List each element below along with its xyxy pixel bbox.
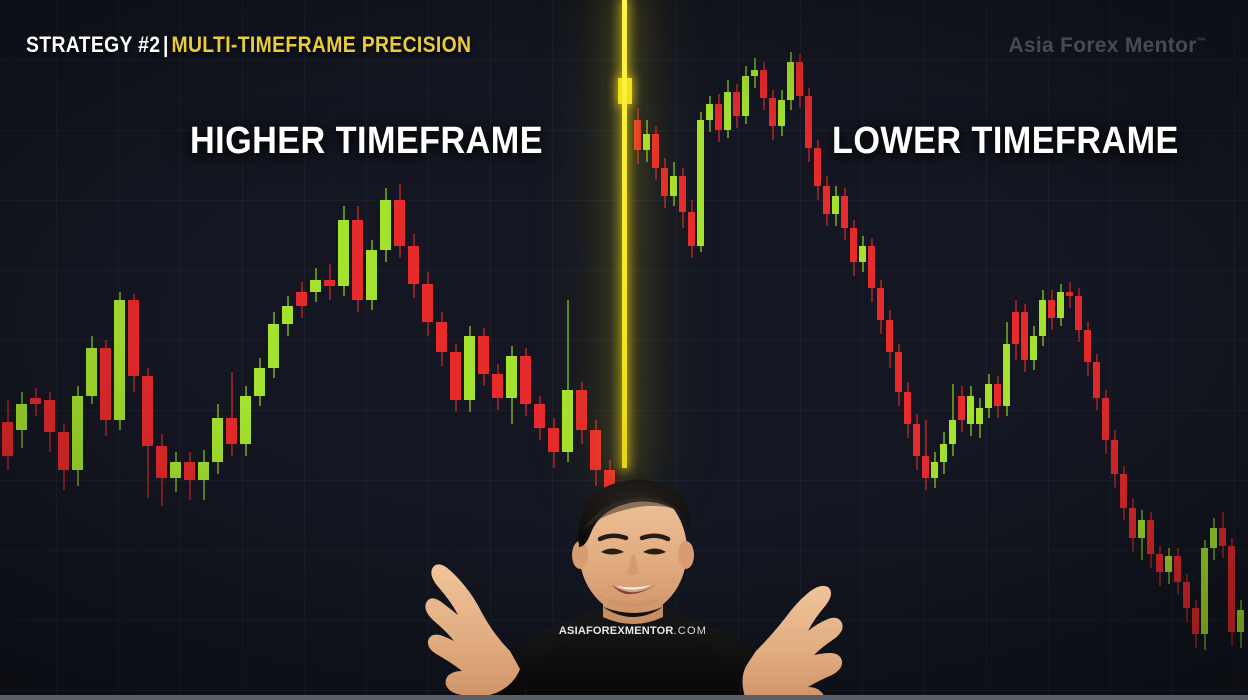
candle-body — [688, 212, 695, 246]
candle-body — [464, 336, 475, 400]
candle-body — [198, 462, 209, 480]
candle-body — [254, 368, 265, 396]
candle-body — [1156, 554, 1163, 572]
candle-body — [240, 396, 251, 444]
shirt-brand-name: ASIAFOREXMENTOR — [559, 625, 674, 637]
candle — [156, 0, 167, 700]
candle-body — [1210, 528, 1217, 548]
candle-body — [1219, 528, 1226, 546]
candle-body — [733, 92, 740, 116]
candle — [142, 0, 153, 700]
candle-body — [742, 76, 749, 116]
candle-body — [520, 356, 531, 404]
candle — [922, 0, 929, 700]
candle-body — [805, 96, 812, 148]
candle — [58, 0, 69, 700]
candle-body — [868, 246, 875, 288]
candle-body — [1012, 312, 1019, 344]
candle — [268, 0, 279, 700]
candle — [949, 0, 956, 700]
candle-body — [548, 428, 559, 452]
candle-body — [366, 250, 377, 300]
candle — [1201, 0, 1208, 700]
candle-body — [715, 104, 722, 130]
candle — [967, 0, 974, 700]
candle-body — [985, 384, 992, 408]
candle-body — [697, 120, 704, 246]
candle-body — [310, 280, 321, 292]
candle-body — [787, 62, 794, 100]
candle — [913, 0, 920, 700]
candle — [184, 0, 195, 700]
candle — [1012, 0, 1019, 700]
candle-body — [1057, 292, 1064, 318]
candle-body — [1084, 330, 1091, 362]
candle-body — [450, 352, 461, 400]
candle — [310, 0, 321, 700]
candle-body — [184, 462, 195, 480]
candle-body — [1174, 556, 1181, 582]
candle — [1084, 0, 1091, 700]
candle-body — [534, 404, 545, 428]
candle-body — [913, 424, 920, 456]
candle — [128, 0, 139, 700]
candle-body — [652, 134, 659, 168]
shirt-brand-text: ASIAFOREXMENTOR.COM — [398, 625, 868, 637]
candle-body — [1111, 440, 1118, 474]
candle — [1030, 0, 1037, 700]
candle — [366, 0, 377, 700]
candle-body — [44, 400, 55, 432]
candle-body — [422, 284, 433, 322]
candle-body — [1066, 292, 1073, 296]
candle-body — [931, 462, 938, 478]
candle — [240, 0, 251, 700]
candle-body — [877, 288, 884, 320]
candle — [1219, 0, 1226, 700]
candle-body — [30, 398, 41, 404]
candle-body — [58, 432, 69, 470]
candle — [212, 0, 223, 700]
candle — [1237, 0, 1244, 700]
candle-body — [760, 70, 767, 98]
candle-body — [1138, 520, 1145, 538]
candle-body — [338, 220, 349, 286]
candle — [30, 0, 41, 700]
candle — [16, 0, 27, 700]
candle — [44, 0, 55, 700]
candle-body — [1075, 296, 1082, 330]
strategy-title: STRATEGY #2|MULTI-TIMEFRAME PRECISION — [26, 32, 471, 58]
candle-body — [296, 292, 307, 306]
candle-body — [380, 200, 391, 250]
candle — [1138, 0, 1145, 700]
candle-body — [724, 92, 731, 130]
candle — [1102, 0, 1109, 700]
candle — [1066, 0, 1073, 700]
candle — [72, 0, 83, 700]
candle-body — [114, 300, 125, 420]
candle-body — [814, 148, 821, 186]
candle-body — [1183, 582, 1190, 608]
candle-body — [128, 300, 139, 376]
candle-body — [1039, 300, 1046, 336]
candle-body — [1120, 474, 1127, 508]
candle-body — [1192, 608, 1199, 634]
trademark-symbol: ™ — [1197, 36, 1206, 46]
candle — [994, 0, 1001, 700]
candle-body — [823, 186, 830, 214]
candle-body — [940, 444, 947, 462]
candle-body — [796, 62, 803, 96]
candle — [86, 0, 97, 700]
candle — [254, 0, 265, 700]
candle — [877, 0, 884, 700]
candle — [886, 0, 893, 700]
candle-body — [72, 396, 83, 470]
candle — [904, 0, 911, 700]
candle-body — [506, 356, 517, 398]
candle-body — [1003, 344, 1010, 406]
candle-body — [1129, 508, 1136, 538]
candle-body — [562, 390, 573, 452]
candle-body — [670, 176, 677, 196]
candle-body — [859, 246, 866, 262]
candle-body — [16, 404, 27, 430]
candle — [1093, 0, 1100, 700]
candle-body — [226, 418, 237, 444]
lower-timeframe-label: LOWER TIMEFRAME — [832, 120, 1179, 163]
candle — [1192, 0, 1199, 700]
candle — [296, 0, 307, 700]
right-ear — [678, 541, 694, 569]
candle-body — [1030, 336, 1037, 360]
strategy-number-label: STRATEGY #2 — [26, 32, 160, 57]
candle — [895, 0, 902, 700]
candle-body — [841, 196, 848, 228]
candle — [1120, 0, 1127, 700]
candle-body — [436, 322, 447, 352]
candle-body — [769, 98, 776, 126]
candle-body — [394, 200, 405, 246]
candle — [1210, 0, 1217, 700]
candle-body — [576, 390, 587, 430]
candle-body — [1147, 520, 1154, 554]
candle — [958, 0, 965, 700]
candle-wick — [925, 420, 927, 490]
candle-body — [1165, 556, 1172, 572]
candle-body — [352, 220, 363, 300]
candle — [1183, 0, 1190, 700]
strategy-name-label: MULTI-TIMEFRAME PRECISION — [171, 32, 471, 57]
candle — [1021, 0, 1028, 700]
candle-body — [895, 352, 902, 392]
candle — [868, 0, 875, 700]
candle-body — [643, 134, 650, 150]
candle-body — [408, 246, 419, 284]
candle-body — [832, 196, 839, 214]
candle-body — [142, 376, 153, 446]
candle — [114, 0, 125, 700]
candle-body — [886, 320, 893, 352]
candle — [976, 0, 983, 700]
candle-body — [850, 228, 857, 262]
brand-watermark: Asia Forex Mentor™ — [1008, 34, 1206, 58]
candle — [1147, 0, 1154, 700]
candle-body — [1237, 610, 1244, 632]
candle — [352, 0, 363, 700]
candle-body — [86, 348, 97, 396]
candle — [1039, 0, 1046, 700]
candle-body — [922, 456, 929, 478]
candle-body — [904, 392, 911, 424]
candle — [198, 0, 209, 700]
candle-body — [1093, 362, 1100, 398]
candle-body — [156, 446, 167, 478]
presenter-figure: ASIAFOREXMENTOR.COM — [398, 455, 868, 700]
candle-body — [268, 324, 279, 368]
candle-body — [994, 384, 1001, 406]
player-progress-bar[interactable] — [0, 695, 1248, 700]
candle-body — [706, 104, 713, 120]
candle-body — [1201, 548, 1208, 634]
candle-body — [100, 348, 111, 420]
right-hand — [742, 586, 842, 700]
candle — [1048, 0, 1055, 700]
candle-body — [1048, 300, 1055, 318]
candle-body — [1021, 312, 1028, 360]
candle — [1075, 0, 1082, 700]
candle — [931, 0, 938, 700]
timeframe-divider-line — [622, 0, 627, 468]
candle — [1174, 0, 1181, 700]
candle — [100, 0, 111, 700]
candle — [1156, 0, 1163, 700]
candle-body — [492, 374, 503, 398]
title-separator: | — [163, 32, 169, 57]
candle-body — [751, 70, 758, 76]
candle-body — [170, 462, 181, 478]
candle-body — [778, 100, 785, 126]
candle-body — [2, 422, 13, 456]
candle-body — [1102, 398, 1109, 440]
candle-body — [1228, 546, 1235, 632]
candle — [282, 0, 293, 700]
candle — [170, 0, 181, 700]
candle — [1129, 0, 1136, 700]
candle — [380, 0, 391, 700]
candle-body — [634, 120, 641, 150]
candle — [1111, 0, 1118, 700]
candle — [2, 0, 13, 700]
video-frame: STRATEGY #2|MULTI-TIMEFRAME PRECISION HI… — [0, 0, 1248, 700]
candle-body — [324, 280, 335, 286]
higher-timeframe-label: HIGHER TIMEFRAME — [190, 120, 543, 163]
watermark-text: Asia Forex Mentor — [1008, 34, 1196, 57]
candle-body — [958, 396, 965, 420]
candle-body — [949, 420, 956, 444]
candle — [940, 0, 947, 700]
candle — [1165, 0, 1172, 700]
candle-body — [212, 418, 223, 462]
candle — [1228, 0, 1235, 700]
candle — [985, 0, 992, 700]
shirt-brand-tld: .COM — [674, 625, 708, 637]
candle-body — [282, 306, 293, 324]
candle-body — [661, 168, 668, 196]
candle-body — [976, 408, 983, 424]
candle — [338, 0, 349, 700]
candle — [1003, 0, 1010, 700]
candle-body — [967, 396, 974, 424]
candle — [1057, 0, 1064, 700]
candle-body — [478, 336, 489, 374]
candle — [324, 0, 335, 700]
candle — [226, 0, 237, 700]
candle-body — [679, 176, 686, 212]
